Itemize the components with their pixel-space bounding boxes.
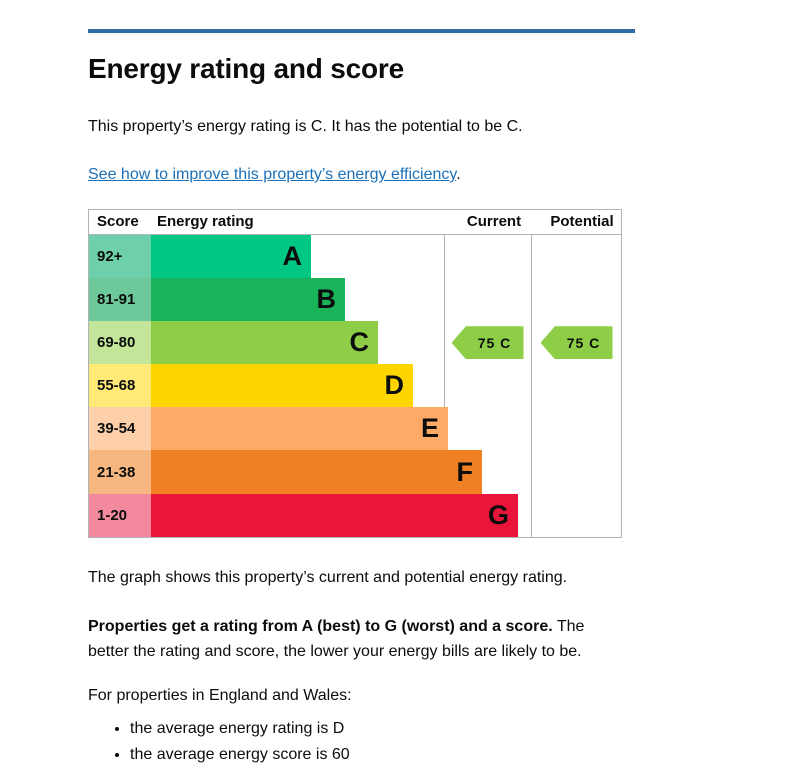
rating-explanation-bold: Properties get a rating from A (best) to… — [88, 618, 553, 635]
region-facts-list: the average energy rating is Dthe averag… — [108, 716, 350, 768]
band-score-range: 55-68 — [89, 364, 151, 407]
band-score-range: 1-20 — [89, 494, 151, 537]
band-row: 39-54E — [89, 407, 621, 450]
band-row: 69-80C75 C75 C — [89, 321, 621, 364]
band-score-range: 81-91 — [89, 278, 151, 321]
header-score: Score — [97, 210, 139, 234]
energy-rating-page: Energy rating and score This property’s … — [0, 0, 800, 777]
band-bar-d: D — [151, 364, 413, 407]
band-row: 1-20G — [89, 494, 621, 537]
band-bar-f: F — [151, 450, 482, 493]
graph-note: The graph shows this property’s current … — [88, 566, 567, 590]
band-score-range: 39-54 — [89, 407, 151, 450]
band-bar-g: G — [151, 494, 518, 537]
band-row: 92+A — [89, 235, 621, 278]
chart-header-row: Score Energy rating Current Potential — [89, 210, 621, 235]
region-lead: For properties in England and Wales: — [88, 684, 352, 708]
potential-rating-cell: 75 C — [531, 321, 622, 364]
improve-efficiency-link[interactable]: See how to improve this property’s energ… — [88, 166, 456, 183]
region-fact-item: the average energy rating is D — [130, 716, 350, 742]
band-row: 55-68D — [89, 364, 621, 407]
band-row: 21-38F — [89, 450, 621, 493]
region-fact-item: the average energy score is 60 — [130, 742, 350, 768]
band-score-range: 69-80 — [89, 321, 151, 364]
current-rating-cell: 75 C — [444, 321, 531, 364]
section-top-rule — [88, 29, 635, 33]
intro-paragraph: This property’s energy rating is C. It h… — [88, 115, 523, 139]
header-current: Current — [451, 210, 537, 234]
improve-link-period: . — [456, 166, 460, 183]
band-bar-e: E — [151, 407, 448, 450]
rating-explanation: Properties get a rating from A (best) to… — [88, 614, 622, 664]
band-bar-a: A — [151, 235, 311, 278]
band-bar-b: B — [151, 278, 345, 321]
band-score-range: 21-38 — [89, 450, 151, 493]
header-energy-rating: Energy rating — [157, 210, 254, 234]
potential-rating-arrow: 75 C — [541, 326, 613, 359]
page-title: Energy rating and score — [88, 52, 404, 86]
chart-body: 92+A81-91B69-80C75 C75 C55-68D39-54E21-3… — [89, 235, 621, 537]
band-bar-c: C — [151, 321, 378, 364]
improve-efficiency-paragraph: See how to improve this property’s energ… — [88, 163, 461, 187]
band-score-range: 92+ — [89, 235, 151, 278]
band-row: 81-91B — [89, 278, 621, 321]
header-potential: Potential — [537, 210, 627, 234]
current-rating-arrow: 75 C — [452, 326, 524, 359]
energy-rating-chart: Score Energy rating Current Potential 92… — [88, 209, 622, 538]
